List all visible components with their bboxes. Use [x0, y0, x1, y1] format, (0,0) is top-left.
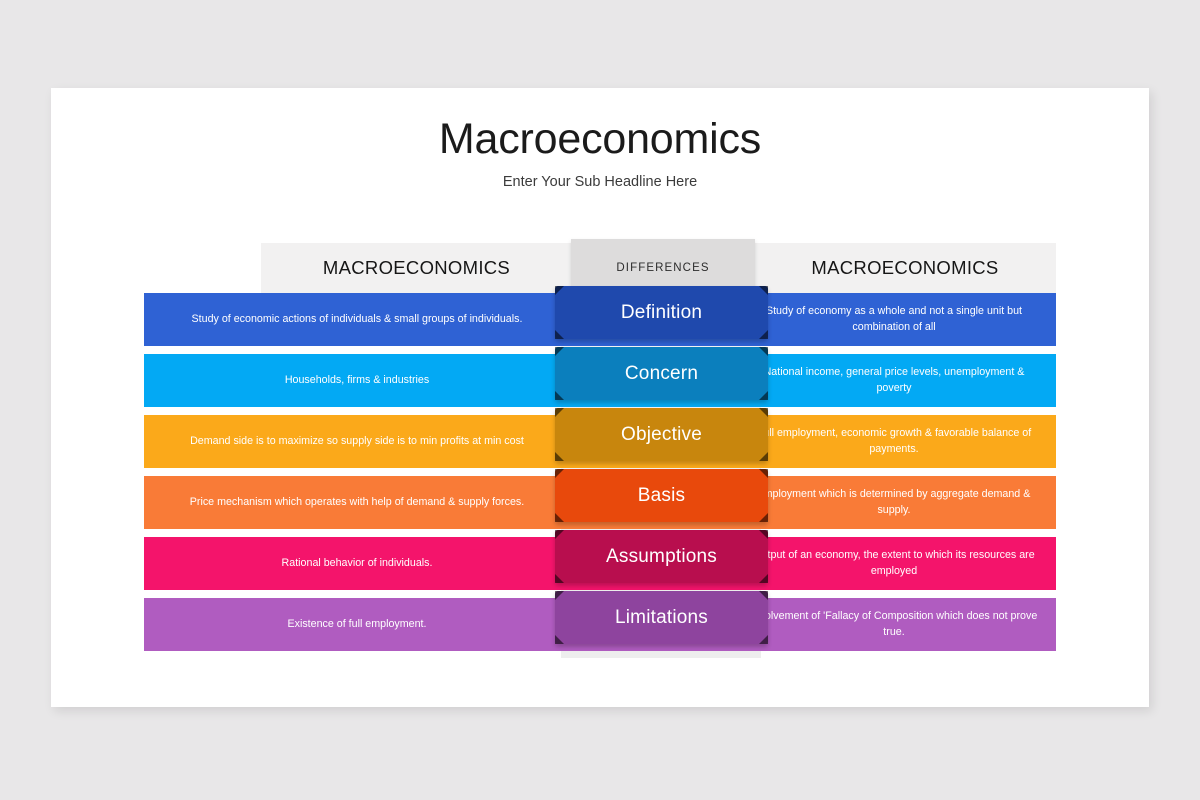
- corner-notch-icon: [759, 330, 768, 339]
- corner-notch-icon: [555, 408, 564, 417]
- table-row: Rational behavior of individuals.Output …: [144, 537, 1056, 590]
- corner-notch-icon: [759, 408, 768, 417]
- corner-notch-icon: [555, 513, 564, 522]
- table-row: Households, firms & industriesNational i…: [144, 354, 1056, 407]
- corner-notch-icon: [759, 286, 768, 295]
- row-cell-left: Price mechanism which operates with help…: [166, 476, 548, 529]
- corner-notch-icon: [555, 469, 564, 478]
- row-cell-right: employment which is determined by aggreg…: [744, 476, 1044, 529]
- row-label-chip[interactable]: Concern: [555, 347, 768, 400]
- corner-notch-icon: [759, 391, 768, 400]
- row-label-text: Concern: [625, 363, 698, 385]
- row-label-chip[interactable]: Objective: [555, 408, 768, 461]
- corner-notch-icon: [555, 635, 564, 644]
- row-cell-left: Households, firms & industries: [166, 354, 548, 407]
- corner-notch-icon: [759, 591, 768, 600]
- table-row: Study of economic actions of individuals…: [144, 293, 1056, 346]
- table-row: Existence of full employment.Involvement…: [144, 598, 1056, 651]
- row-cell-left: Existence of full employment.: [166, 598, 548, 651]
- row-label-text: Objective: [621, 424, 702, 446]
- page-title: Macroeconomics: [51, 115, 1149, 164]
- row-label-text: Basis: [638, 485, 685, 507]
- row-cell-left: Demand side is to maximize so supply sid…: [166, 415, 548, 468]
- corner-notch-icon: [555, 530, 564, 539]
- row-cell-right: Involvement of 'Fallacy of Composition w…: [744, 598, 1044, 651]
- row-label-text: Definition: [621, 302, 702, 324]
- corner-notch-icon: [555, 391, 564, 400]
- corner-notch-icon: [759, 452, 768, 461]
- comparison-rows: Study of economic actions of individuals…: [144, 293, 1056, 658]
- table-row: Demand side is to maximize so supply sid…: [144, 415, 1056, 468]
- row-label-text: Assumptions: [606, 546, 717, 568]
- row-cell-left: Rational behavior of individuals.: [166, 537, 548, 590]
- corner-notch-icon: [555, 452, 564, 461]
- row-label-text: Limitations: [615, 607, 708, 629]
- row-cell-right: National income, general price levels, u…: [744, 354, 1044, 407]
- comparison-table: MACROECONOMICS MACROECONOMICS DIFFERENCE…: [144, 243, 1056, 658]
- corner-notch-icon: [555, 286, 564, 295]
- corner-notch-icon: [759, 347, 768, 356]
- row-cell-right: Study of economy as a whole and not a si…: [744, 293, 1044, 346]
- row-label-chip[interactable]: Assumptions: [555, 530, 768, 583]
- table-row: Price mechanism which operates with help…: [144, 476, 1056, 529]
- corner-notch-icon: [555, 574, 564, 583]
- corner-notch-icon: [555, 591, 564, 600]
- row-label-chip[interactable]: Limitations: [555, 591, 768, 644]
- corner-notch-icon: [759, 574, 768, 583]
- corner-notch-icon: [759, 513, 768, 522]
- corner-notch-icon: [759, 530, 768, 539]
- corner-notch-icon: [759, 635, 768, 644]
- slide-card: Macroeconomics Enter Your Sub Headline H…: [51, 88, 1149, 707]
- row-cell-right: Output of an economy, the extent to whic…: [744, 537, 1044, 590]
- corner-notch-icon: [555, 330, 564, 339]
- row-label-chip[interactable]: Definition: [555, 286, 768, 339]
- column-header-left: MACROECONOMICS: [261, 243, 572, 293]
- page-subtitle: Enter Your Sub Headline Here: [51, 174, 1149, 190]
- corner-notch-icon: [555, 347, 564, 356]
- row-cell-left: Study of economic actions of individuals…: [166, 293, 548, 346]
- row-cell-right: Full employment, economic growth & favor…: [744, 415, 1044, 468]
- corner-notch-icon: [759, 469, 768, 478]
- column-header-right: MACROECONOMICS: [754, 243, 1056, 293]
- row-label-chip[interactable]: Basis: [555, 469, 768, 522]
